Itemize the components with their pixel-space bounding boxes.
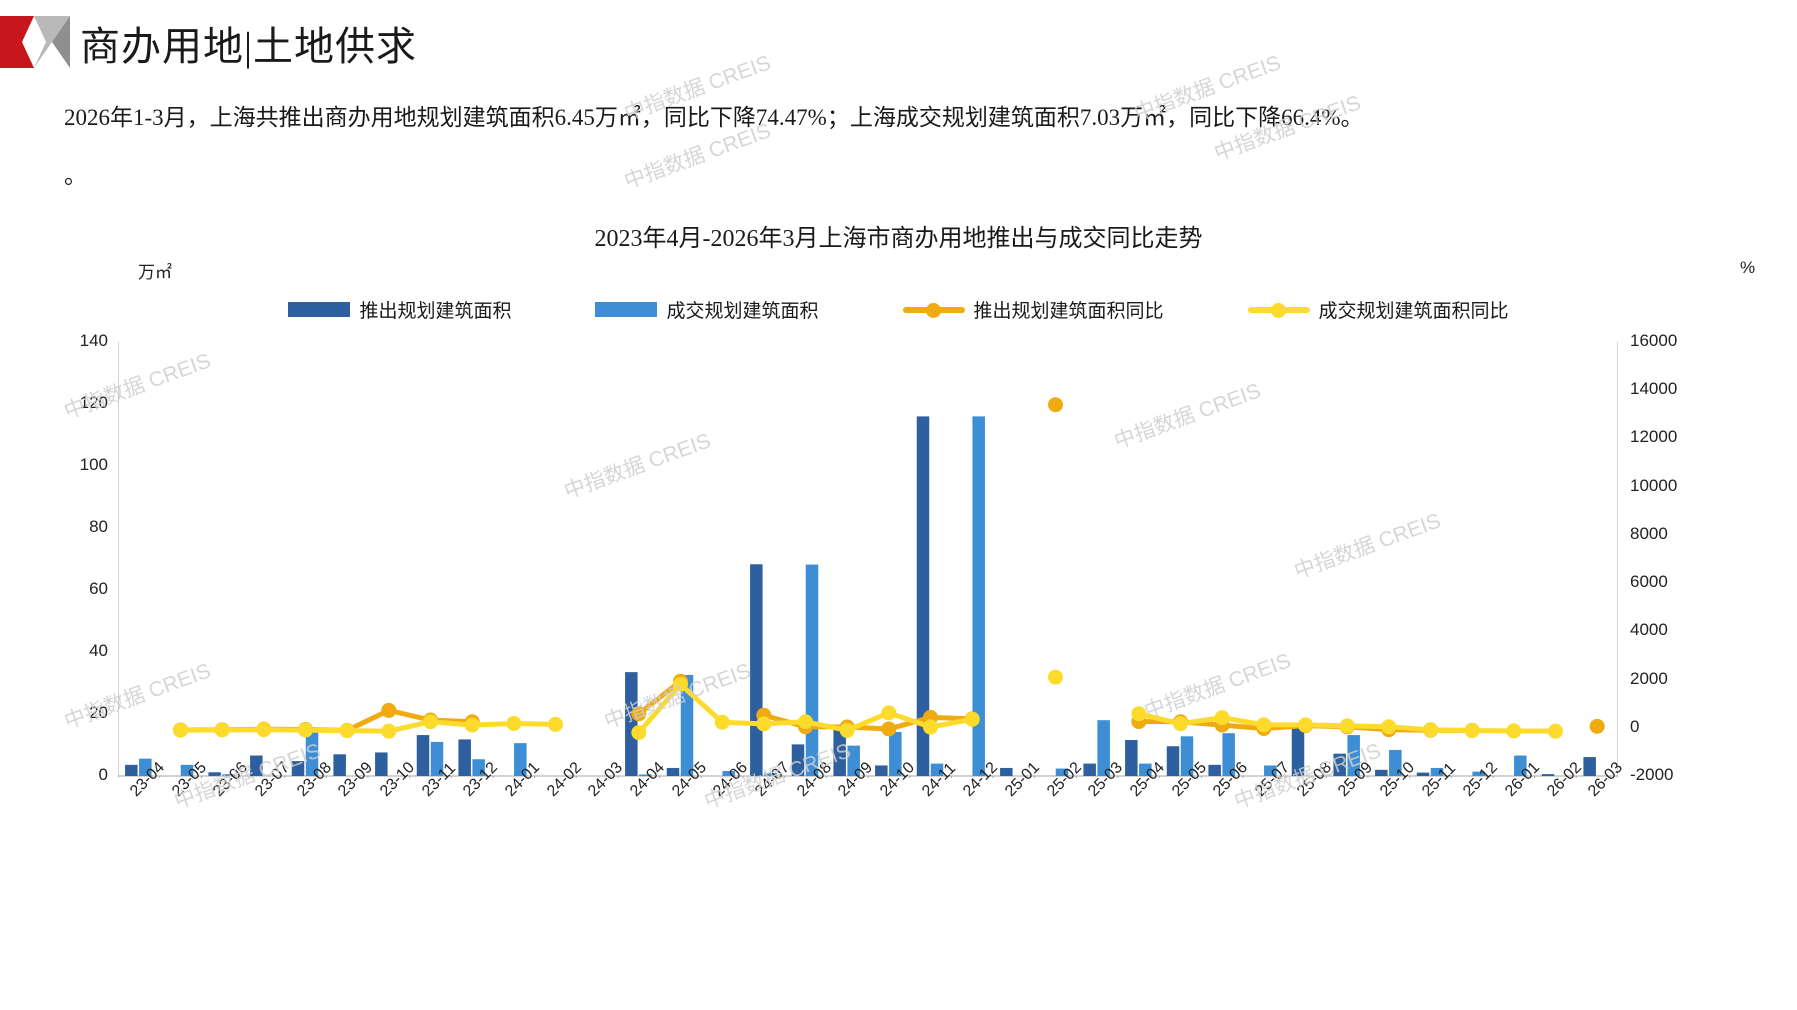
legend-item-supply-bar[interactable]: 推出规划建筑面积 <box>288 296 511 323</box>
y-axis-left-tick-label: 100 <box>56 455 108 475</box>
y-axis-right-tick-label: 14000 <box>1630 379 1700 399</box>
y-axis-left-tick-label: 80 <box>56 517 108 537</box>
line-marker <box>1548 724 1563 739</box>
line-marker <box>881 705 896 720</box>
line-marker <box>215 722 230 737</box>
line-marker <box>1298 717 1313 732</box>
creis-logo-icon <box>0 16 70 68</box>
bar <box>208 772 221 776</box>
chart-svg <box>118 342 1618 778</box>
bar-series-0 <box>125 416 1596 776</box>
line-marker <box>465 718 480 733</box>
y-axis-right-tick-label: -2000 <box>1630 765 1700 785</box>
bar <box>667 768 680 776</box>
line-marker <box>381 703 396 718</box>
line-series-0 <box>173 397 1605 738</box>
line-marker <box>631 725 646 740</box>
legend-item-transaction-bar[interactable]: 成交规划建筑面积 <box>595 296 818 323</box>
legend-label-transaction-yoy: 成交规划建筑面积同比 <box>1319 296 1509 323</box>
y-axis-left-tick-label: 40 <box>56 641 108 661</box>
line-marker <box>1048 670 1063 685</box>
chart-container: 2023年4月-2026年3月上海市商办用地推出与成交同比走势 万㎡ % 推出规… <box>0 200 1797 1010</box>
bar <box>1583 757 1596 776</box>
line-marker <box>881 721 896 736</box>
y-axis-left-tick-label: 20 <box>56 703 108 723</box>
bar <box>1000 768 1013 776</box>
bar <box>1542 774 1555 776</box>
line-marker <box>840 723 855 738</box>
y-axis-right-tick-label: 2000 <box>1630 669 1700 689</box>
y-axis-unit-left: 万㎡ <box>138 258 172 283</box>
legend-swatch-transaction-yoy <box>1248 302 1310 317</box>
page-header: 商办用地|土地供求 <box>0 0 1797 86</box>
page-title: 商办用地|土地供求 <box>80 14 417 72</box>
legend-item-supply-yoy-line[interactable]: 推出规划建筑面积同比 <box>903 296 1164 323</box>
line-marker <box>1340 718 1355 733</box>
bar <box>1333 754 1346 776</box>
bar <box>417 735 430 776</box>
line-marker <box>1465 723 1480 738</box>
chart-plot-area <box>118 342 1618 776</box>
summary-paragraph-line1: 2026年1-3月，上海共推出商办用地规划建筑面积6.45万㎡，同比下降74.4… <box>64 100 1764 136</box>
line-marker <box>381 724 396 739</box>
y-axis-right-tick-label: 10000 <box>1630 476 1700 496</box>
line-marker <box>715 715 730 730</box>
line-marker <box>1173 716 1188 731</box>
summary-paragraph-line2: 。 <box>64 158 1764 194</box>
bar <box>1417 773 1430 776</box>
legend-item-transaction-yoy-line[interactable]: 成交规划建筑面积同比 <box>1248 296 1509 323</box>
legend-swatch-transaction <box>595 302 657 317</box>
bar <box>333 754 346 776</box>
bar <box>1125 740 1138 776</box>
legend-label-supply-yoy: 推出规划建筑面积同比 <box>974 296 1164 323</box>
line-marker <box>1590 719 1605 734</box>
line-marker <box>965 712 980 727</box>
y-axis-left-tick-label: 120 <box>56 393 108 413</box>
bar-series-1 <box>139 416 1527 776</box>
y-axis-left-tick-label: 140 <box>56 331 108 351</box>
chart-title: 2023年4月-2026年3月上海市商办用地推出与成交同比走势 <box>0 218 1797 253</box>
bar <box>806 565 819 776</box>
bar <box>125 765 138 776</box>
line-marker <box>1215 710 1230 725</box>
line-marker <box>340 723 355 738</box>
y-axis-right-tick-label: 4000 <box>1630 620 1700 640</box>
y-axis-right-tick-label: 0 <box>1630 717 1700 737</box>
line-marker <box>923 720 938 735</box>
bar <box>1375 770 1388 776</box>
legend-label-supply: 推出规划建筑面积 <box>359 296 511 323</box>
line-marker <box>1048 397 1063 412</box>
bar <box>1083 764 1096 776</box>
line-marker <box>256 722 271 737</box>
bar <box>750 564 763 776</box>
y-axis-left-tick-label: 0 <box>56 765 108 785</box>
y-axis-right-tick-label: 16000 <box>1630 331 1700 351</box>
bar <box>458 739 471 776</box>
line-marker <box>1381 719 1396 734</box>
chart-legend: 推出规划建筑面积 成交规划建筑面积 推出规划建筑面积同比 成交规划建筑面积同比 <box>0 296 1797 323</box>
line-marker <box>548 717 563 732</box>
bar <box>875 765 888 776</box>
line-marker <box>298 723 313 738</box>
legend-swatch-supply-yoy <box>903 302 965 317</box>
line-marker <box>798 714 813 729</box>
bar <box>375 752 388 776</box>
line-marker <box>673 677 688 692</box>
legend-swatch-supply <box>288 302 350 317</box>
bar <box>250 756 263 776</box>
line-marker <box>1256 717 1271 732</box>
y-axis-unit-right: % <box>1740 258 1755 278</box>
legend-label-transaction: 成交规划建筑面积 <box>666 296 818 323</box>
bar <box>292 761 305 776</box>
line-marker <box>173 723 188 738</box>
line-marker <box>423 714 438 729</box>
y-axis-right-tick-label: 8000 <box>1630 524 1700 544</box>
bar <box>1292 727 1305 776</box>
line-marker <box>756 716 771 731</box>
line-marker <box>1423 722 1438 737</box>
y-axis-left-tick-label: 60 <box>56 579 108 599</box>
y-axis-right-tick-label: 6000 <box>1630 572 1700 592</box>
y-axis-right-tick-label: 12000 <box>1630 427 1700 447</box>
bar <box>625 672 638 776</box>
line-marker <box>1131 706 1146 721</box>
line-marker <box>1506 723 1521 738</box>
line-marker <box>506 716 521 731</box>
line-marker <box>631 706 646 721</box>
